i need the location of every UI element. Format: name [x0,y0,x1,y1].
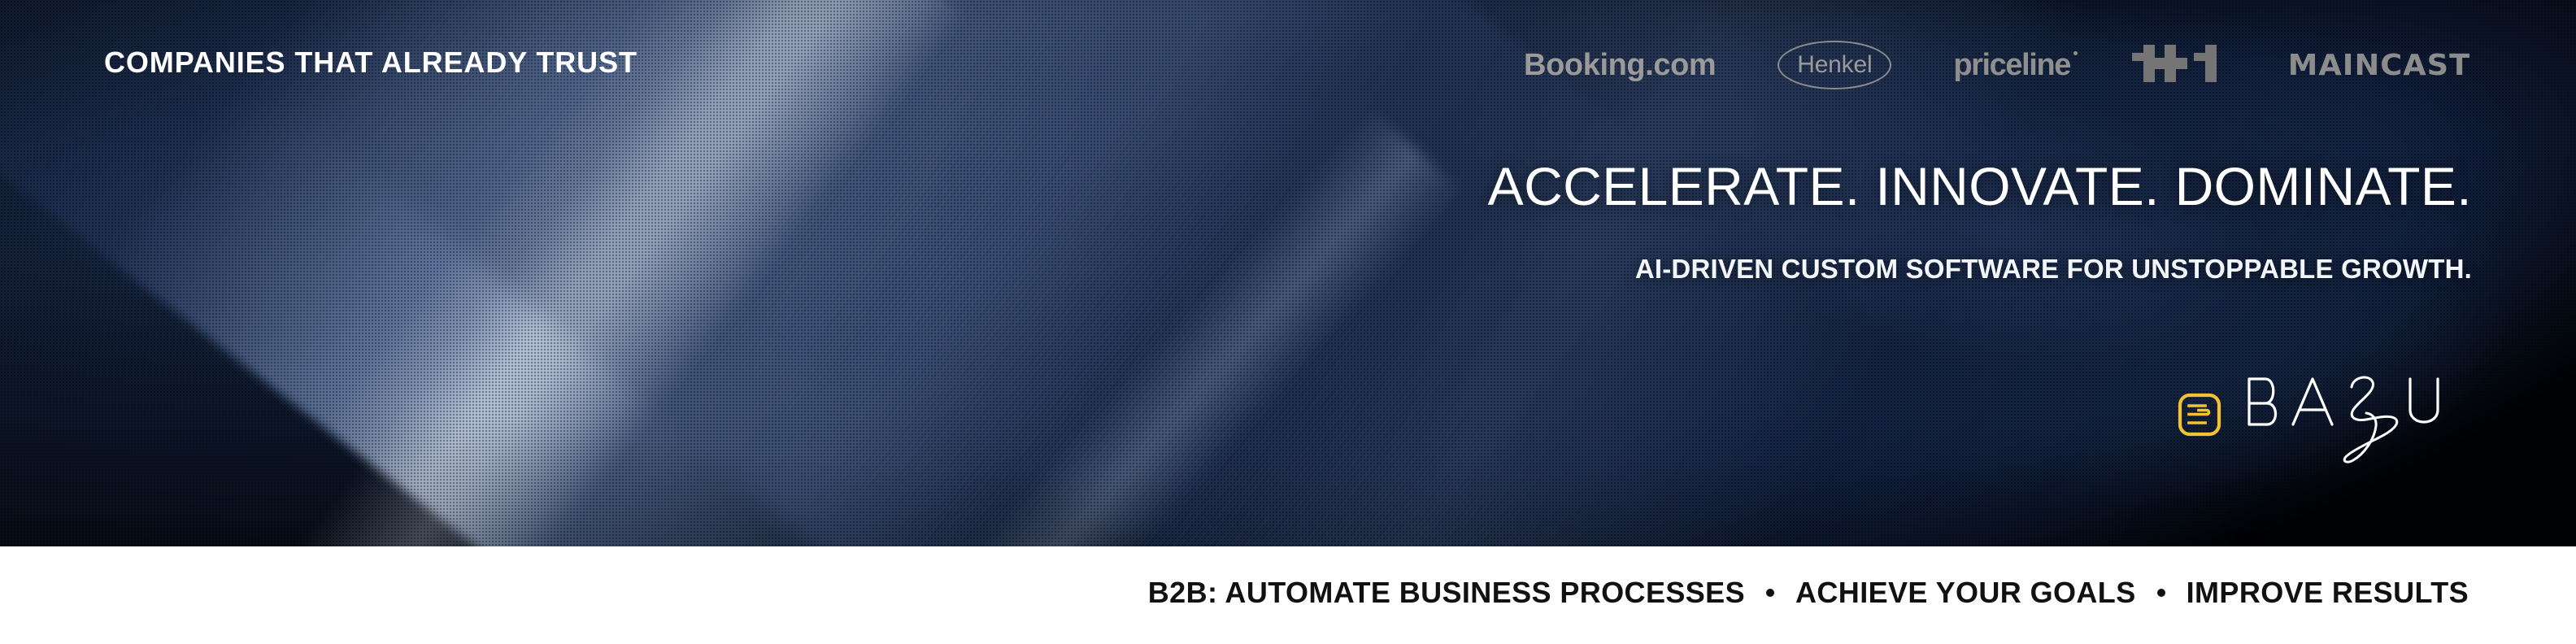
trademark-dot-icon [2073,51,2078,55]
logo-priceline[interactable]: priceline [1953,48,2070,83]
hero-banner: COMPANIES THAT ALREADY TRUST Booking.com… [0,0,2576,644]
bazu-wordmark [2243,368,2470,465]
logo-henkel[interactable]: Henkel [1778,41,1891,89]
logo-priceline-label: priceline [1953,48,2070,83]
bazu-logo[interactable] [2178,364,2470,465]
logo-maincast[interactable]: MAINCAST [2288,49,2470,82]
hero-copy: ACCELERATE. INNOVATE. DOMINATE. AI-DRIVE… [1488,159,2472,285]
client-logo-row: Booking.com Henkel priceline [1524,41,2469,89]
trust-label: COMPANIES THAT ALREADY TRUST [104,46,637,80]
bullet-separator-icon [1766,589,1774,597]
hero-top-bar: COMPANIES THAT ALREADY TRUST Booking.com… [0,0,2576,130]
logo-one-plus-one[interactable] [2132,45,2228,86]
ticker-content: B2B: AUTOMATE BUSINESS PROCESSES ACHIEVE… [1148,576,2469,610]
hero-section: COMPANIES THAT ALREADY TRUST Booking.com… [0,0,2576,546]
hero-subheadline: AI-DRIVEN CUSTOM SOFTWARE FOR UNSTOPPABL… [1488,254,2472,285]
ticker-item-2: ACHIEVE YOUR GOALS [1795,576,2136,610]
ticker-item-1: B2B: AUTOMATE BUSINESS PROCESSES [1148,576,1745,610]
bazu-mark-icon [2178,393,2221,437]
bullet-separator-icon [2157,589,2165,597]
logo-booking-com[interactable]: Booking.com [1524,48,1716,83]
hero-headline: ACCELERATE. INNOVATE. DOMINATE. [1488,159,2472,213]
ticker-item-3: IMPROVE RESULTS [2187,576,2469,610]
logo-henkel-label: Henkel [1797,51,1872,79]
ticker-bar: B2B: AUTOMATE BUSINESS PROCESSES ACHIEVE… [0,546,2576,644]
